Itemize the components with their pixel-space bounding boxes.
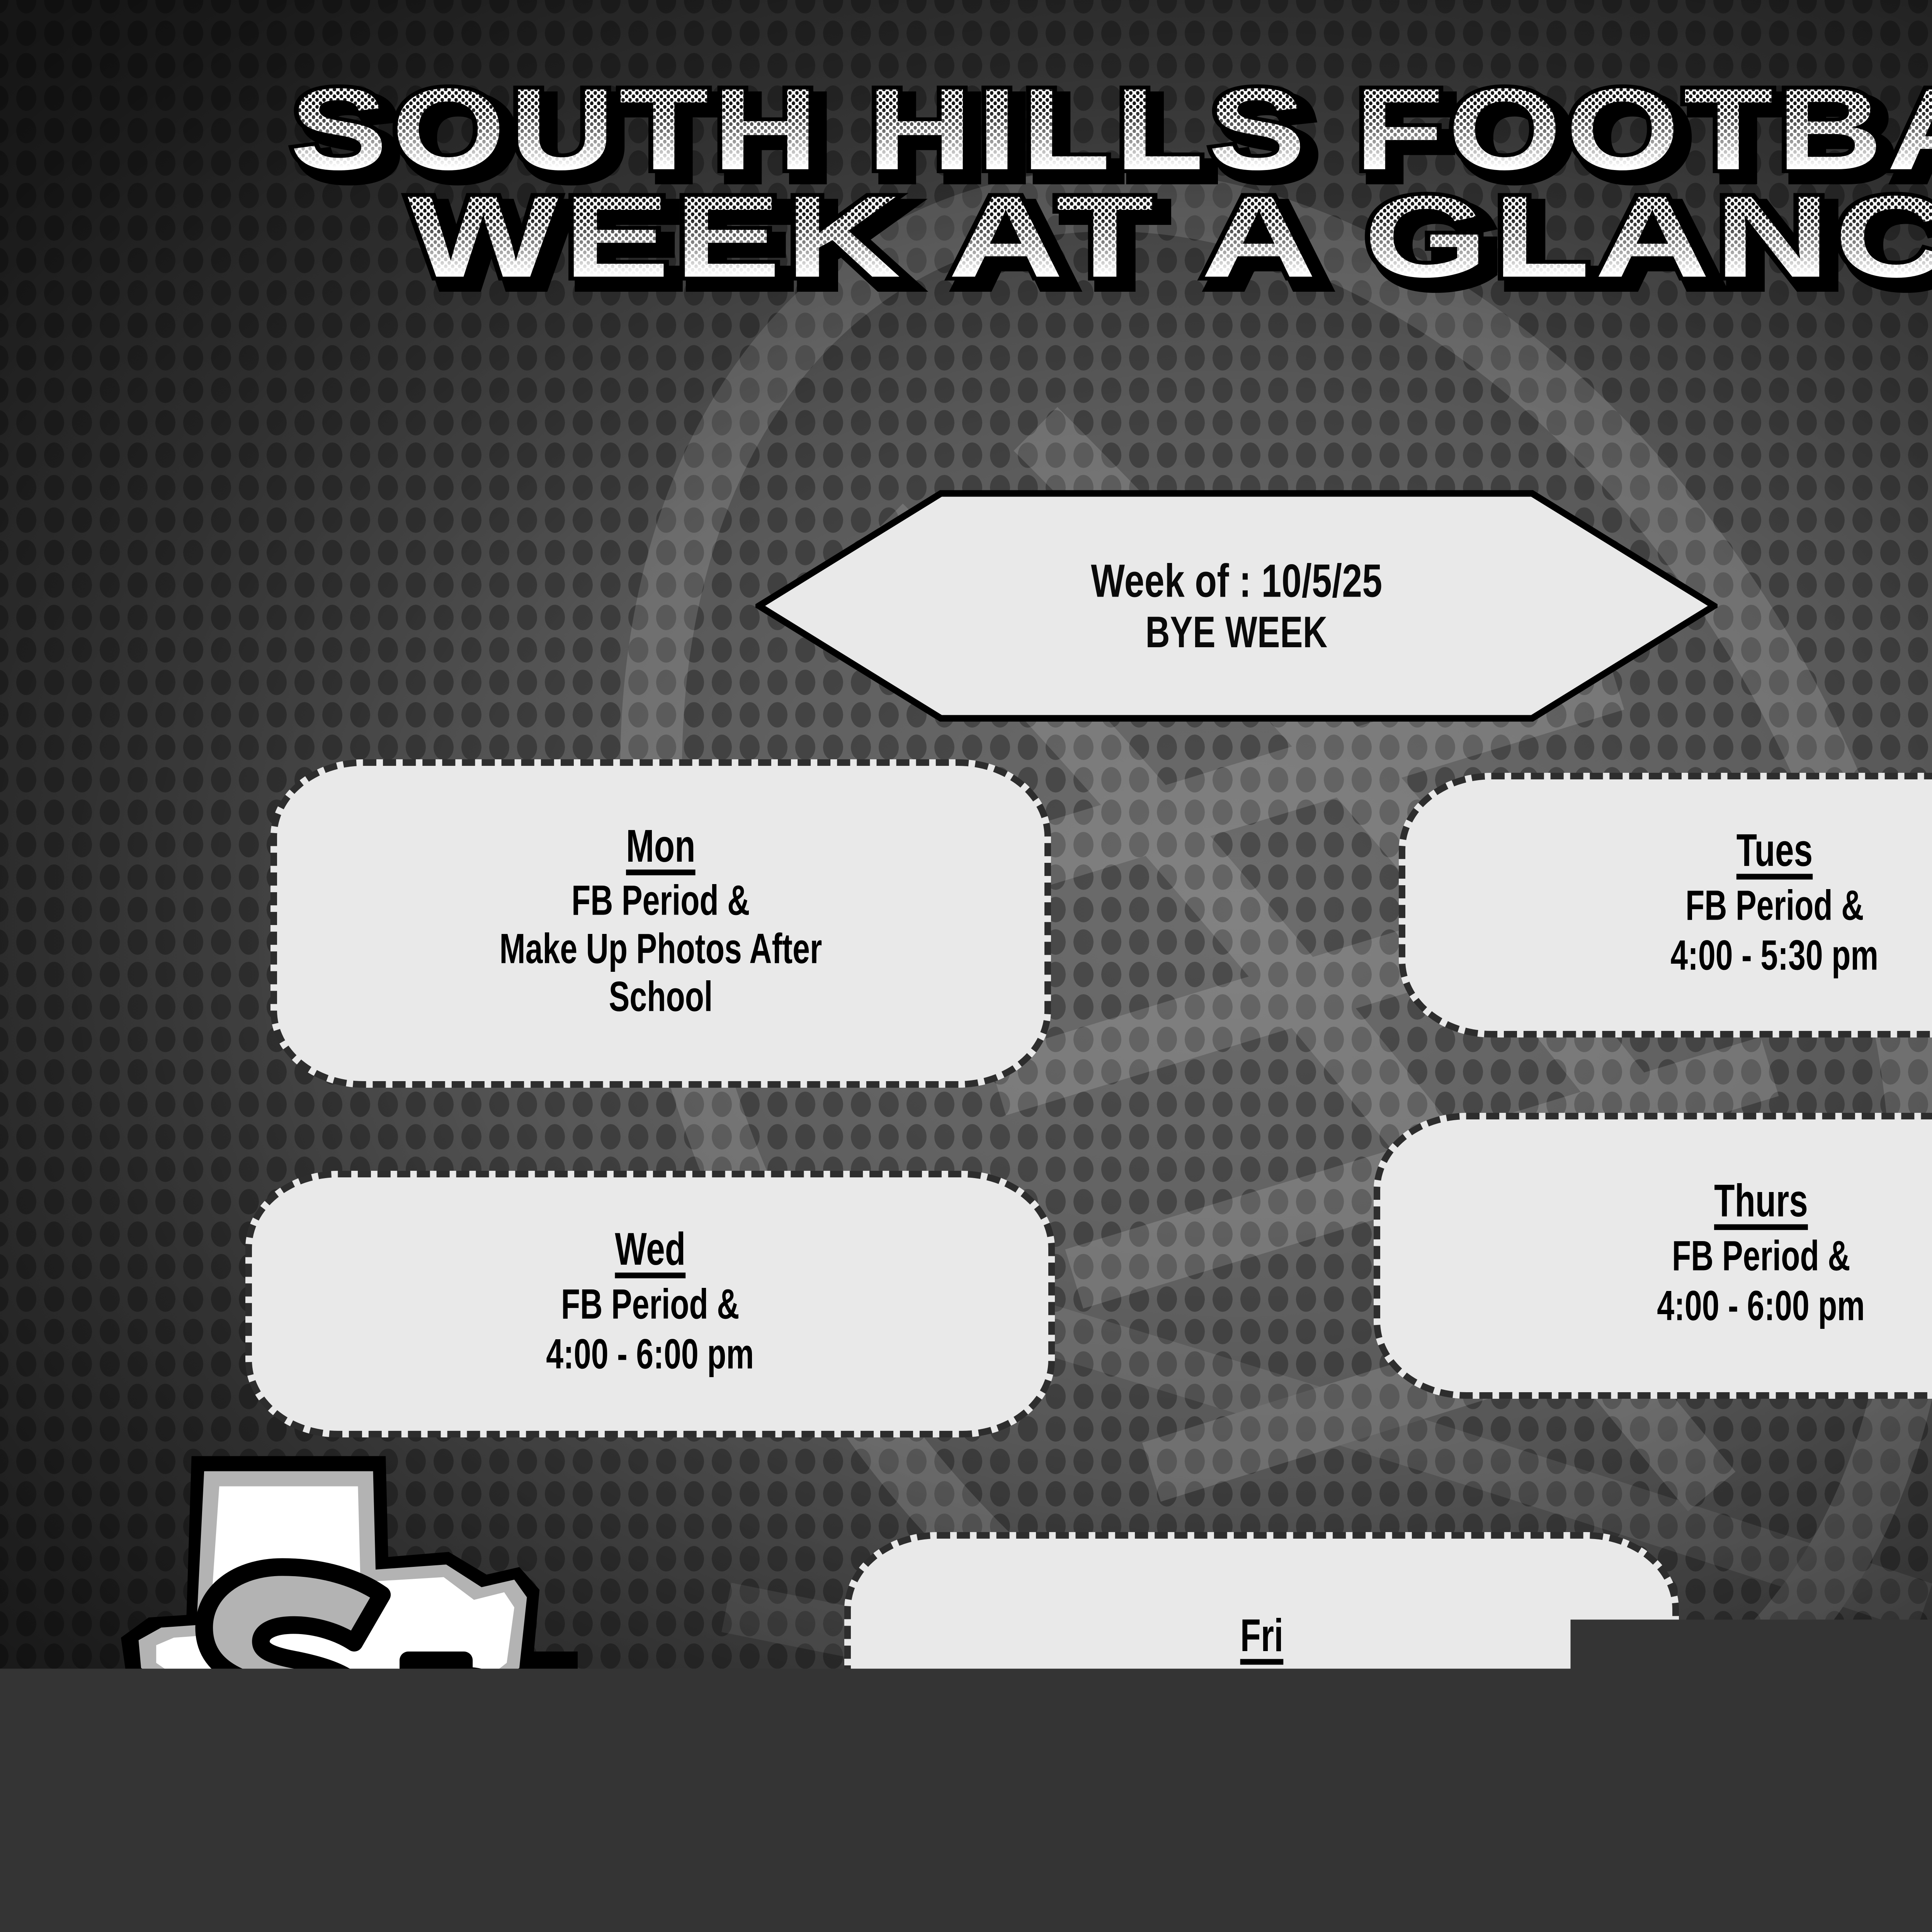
- detail-line: FB Period &: [561, 1276, 739, 1333]
- detail-line: 4:00 - 6:00 pm: [1657, 1278, 1865, 1335]
- day-label-mon: Mon: [626, 823, 695, 869]
- school-logo-right: [1870, 1422, 1932, 1905]
- day-label-fri: Fri: [1240, 1612, 1283, 1659]
- schedule-card-fri[interactable]: Fri NO SCHOOL: [844, 1532, 1679, 1799]
- week-banner: Week of : 10/5/25 BYE WEEK: [755, 490, 1718, 722]
- detail-line: FB Period &: [571, 873, 750, 928]
- detail-line: School: [609, 970, 713, 1025]
- page-title: SOUTH HILLS FOOTBALL SOUTH HILLS FOOTBAL…: [0, 77, 1932, 301]
- schedule-card-thurs[interactable]: Thurs FB Period & 4:00 - 6:00 pm: [1374, 1113, 1932, 1399]
- day-label-thurs: Thurs: [1714, 1178, 1808, 1225]
- school-logo-left: [68, 1426, 578, 1905]
- title-line-2: WEEK AT A GLANCE WEEK AT A GLANCE WEEK A…: [0, 185, 1932, 301]
- detail-line: Make Up Photos After: [500, 922, 822, 976]
- day-label-tues: Tues: [1736, 827, 1813, 874]
- detail-line: FB Period &: [1685, 878, 1864, 934]
- bye-week-label: BYE WEEK: [1145, 610, 1327, 654]
- schedule-card-tues[interactable]: Tues FB Period & 4:00 - 5:30 pm: [1399, 773, 1932, 1037]
- detail-line: 4:00 - 5:30 pm: [1671, 927, 1879, 984]
- schedule-card-wed[interactable]: Wed FB Period & 4:00 - 6:00 pm: [245, 1171, 1055, 1437]
- detail-line: NO SCHOOL: [1167, 1663, 1356, 1719]
- poster-root: SOUTH HILLS FOOTBALL SOUTH HILLS FOOTBAL…: [0, 0, 1932, 1932]
- detail-line: FB Period &: [1672, 1228, 1850, 1285]
- week-of-label: Week of : 10/5/25: [1091, 558, 1382, 604]
- day-label-wed: Wed: [615, 1226, 685, 1273]
- schedule-card-mon[interactable]: Mon FB Period & Make Up Photos After Sch…: [270, 759, 1051, 1088]
- svg-text:WEEK AT A GLANCE: WEEK AT A GLANCE: [408, 172, 1932, 301]
- detail-line: 4:00 - 6:00 pm: [546, 1326, 754, 1383]
